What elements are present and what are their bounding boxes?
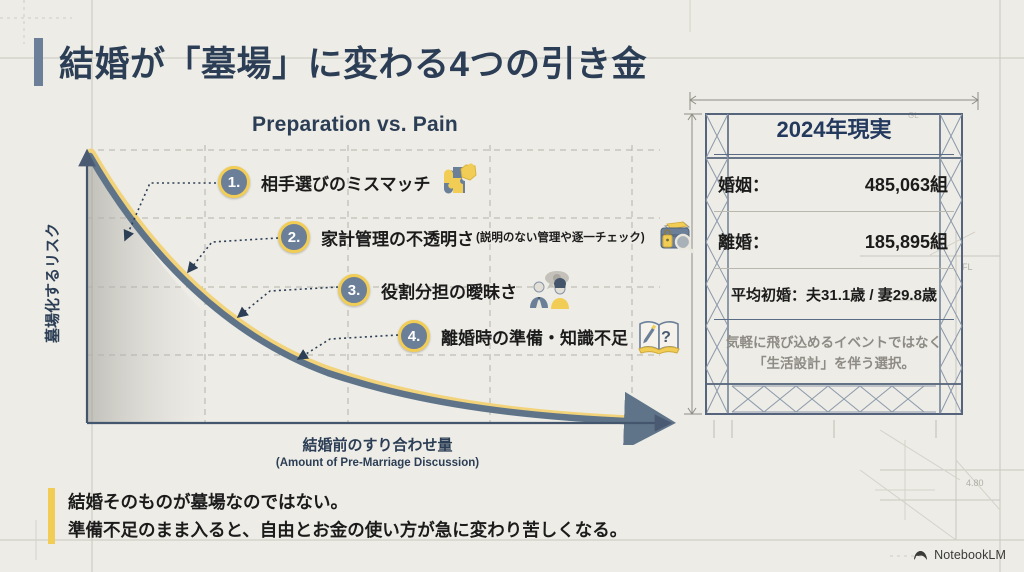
- couple-speech-icon: [526, 270, 574, 310]
- title-text: 結婚が「墓場」に変わる4つの引き金: [59, 36, 647, 87]
- stat-average-age: 平均初婚：夫31.1歳 / 妻29.8歳: [714, 269, 954, 320]
- page-title: 結婚が「墓場」に変わる4つの引き金: [34, 36, 647, 87]
- annotation-badge-4: 4.: [398, 320, 430, 352]
- stat-value-marriage: 485,063組: [865, 171, 948, 197]
- stats-panel: 2024年現実 婚姻： 485,063組 離婚： 185,895組 平均初婚：夫…: [684, 88, 984, 448]
- stats-title: 2024年現実: [714, 104, 954, 155]
- stats-note-line2: 「生活設計」を伴う選択。: [753, 356, 915, 371]
- puzzle-icon: [440, 163, 480, 201]
- footer-accent-bar: [48, 488, 55, 544]
- stat-row-divorce: 離婚： 185,895組: [714, 212, 954, 269]
- stats-note: 気軽に飛び込めるイベントではなく 「生活設計」を伴う選択。: [714, 320, 954, 375]
- footer-line-1: 結婚そのものが墓場なのではない。: [68, 488, 627, 516]
- wallet-lock-icon: [654, 220, 694, 254]
- stat-row-marriage: 婚姻： 485,063組: [714, 155, 954, 212]
- x-axis-label-en: (Amount of Pre-Marriage Discussion): [85, 456, 670, 471]
- annotation-badge-3: 3.: [338, 274, 370, 306]
- annotation-item-3[interactable]: 3. 役割分担の曖昧さ: [338, 270, 574, 310]
- x-axis-label-jp: 結婚前のすり合わせ量: [85, 437, 670, 456]
- book-question-icon: ?: [637, 318, 681, 354]
- x-axis-label: 結婚前のすり合わせ量 (Amount of Pre-Marriage Discu…: [85, 437, 670, 471]
- footer-line-2: 準備不足のまま入ると、自由とお金の使い方が急に変わり苦しくなる。: [68, 516, 627, 544]
- title-accent-bar: [34, 38, 43, 86]
- stat-label-divorce: 離婚：: [718, 228, 769, 253]
- annotation-label-3: 役割分担の曖昧さ: [381, 278, 517, 303]
- stats-note-line1: 気軽に飛び込めるイベントではなく: [726, 335, 942, 350]
- annotation-label-1: 相手選びのミスマッチ: [261, 170, 431, 195]
- annotation-item-4[interactable]: 4. 離婚時の準備・知識不足 ?: [398, 318, 681, 354]
- watermark: NotebookLM: [913, 548, 1006, 562]
- stat-label-marriage: 婚姻：: [718, 171, 769, 196]
- y-axis-label: 墓場化するリスク: [42, 223, 63, 343]
- annotation-badge-1: 1.: [218, 166, 250, 198]
- annotation-label-2: 家計管理の不透明さ: [321, 225, 474, 250]
- footer-message: 結婚そのものが墓場なのではない。 準備不足のまま入ると、自由とお金の使い方が急に…: [48, 488, 627, 544]
- notebooklm-logo-icon: [913, 549, 928, 562]
- annotation-label-4: 離婚時の準備・知識不足: [441, 324, 628, 349]
- watermark-text: NotebookLM: [934, 548, 1006, 562]
- annotation-item-1[interactable]: 1. 相手選びのミスマッチ: [218, 163, 480, 201]
- svg-text:?: ?: [661, 329, 671, 346]
- stat-value-divorce: 185,895組: [865, 228, 948, 254]
- svg-text:4.80: 4.80: [966, 478, 984, 488]
- annotation-item-2[interactable]: 2. 家計管理の不透明さ (説明のない管理や逐一チェック): [278, 220, 694, 254]
- annotation-sublabel-2: (説明のない管理や逐一チェック): [476, 229, 645, 245]
- annotation-badge-2: 2.: [278, 221, 310, 253]
